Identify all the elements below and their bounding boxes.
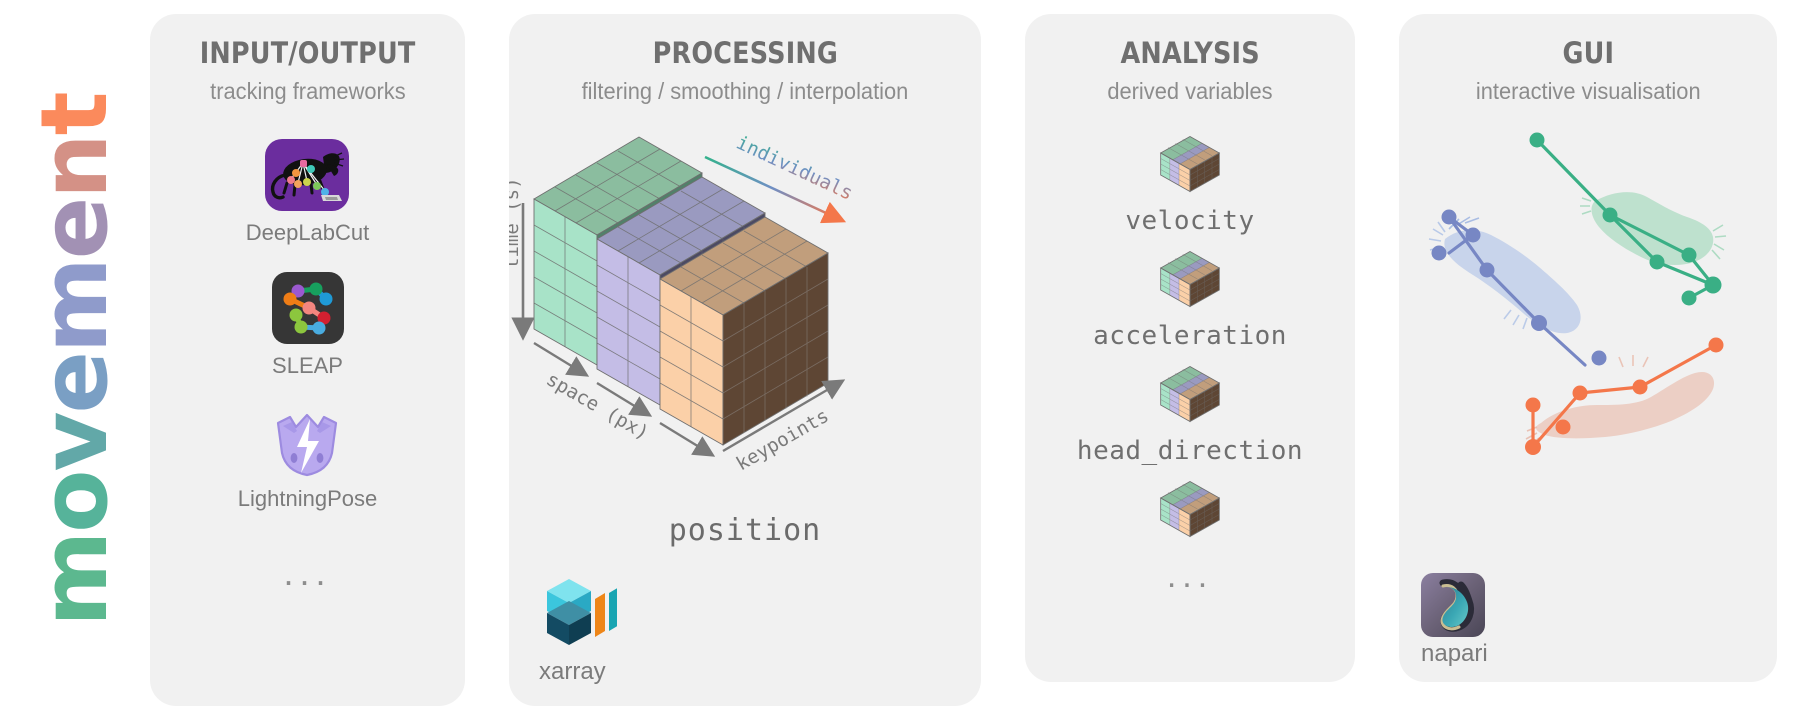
analysis-more-indicator: ... bbox=[1167, 565, 1213, 589]
data-array-caption: position bbox=[669, 513, 822, 548]
list-item-velocity[interactable]: velocity bbox=[1125, 131, 1254, 236]
data-cube-icon bbox=[1155, 246, 1225, 317]
mouse-track-orange bbox=[1525, 338, 1724, 456]
library-xarray[interactable]: xarray bbox=[539, 573, 617, 686]
card-subtitle-gui: interactive visualisation bbox=[1476, 78, 1701, 105]
list-item-label: acceleration bbox=[1093, 321, 1287, 351]
napari-logo-icon bbox=[1421, 573, 1485, 637]
column-container: INPUT/OUTPUT tracking frameworks bbox=[150, 0, 1801, 720]
list-item-more: ... bbox=[1155, 476, 1225, 589]
data-cube-icon bbox=[1155, 131, 1225, 202]
card-input-output: INPUT/OUTPUT tracking frameworks bbox=[150, 14, 465, 706]
lightningpose-logo-icon bbox=[270, 405, 344, 477]
list-item-sleap[interactable]: SLEAP bbox=[272, 272, 344, 379]
brand-logo-letter: e bbox=[29, 353, 121, 413]
library-label: napari bbox=[1421, 640, 1488, 668]
data-cube-icon bbox=[1155, 476, 1225, 547]
mouse-track-blue bbox=[1429, 210, 1607, 366]
card-processing: PROCESSING filtering / smoothing / inter… bbox=[509, 14, 981, 706]
framework-list: DeepLabCut bbox=[150, 139, 465, 584]
card-title-input-output: INPUT/OUTPUT bbox=[200, 36, 416, 70]
list-item-label: SLEAP bbox=[272, 353, 343, 379]
card-subtitle-processing: filtering / smoothing / interpolation bbox=[582, 78, 909, 105]
brand-logo-text: movement bbox=[29, 93, 121, 626]
xarray-logo-icon bbox=[539, 573, 617, 654]
axis-label-individuals: individuals bbox=[733, 132, 856, 205]
brand-logo-letter: v bbox=[29, 414, 121, 472]
mouse-track-green bbox=[1530, 133, 1727, 306]
card-title-gui: GUI bbox=[1562, 36, 1614, 70]
library-label: xarray bbox=[539, 658, 606, 686]
library-napari[interactable]: napari bbox=[1421, 573, 1488, 668]
derived-variable-list: velocity bbox=[1025, 131, 1355, 589]
data-cube-icon bbox=[1155, 361, 1225, 432]
list-item-head-direction[interactable]: head_direction bbox=[1077, 361, 1303, 466]
card-subtitle-analysis: derived variables bbox=[1107, 78, 1272, 105]
card-title-processing: PROCESSING bbox=[652, 36, 837, 70]
data-array-diagram: time (s) space (px) keypoints individual… bbox=[509, 111, 981, 511]
card-gui: GUI interactive visualisation bbox=[1399, 14, 1777, 682]
figure-root: movement INPUT/OUTPUT tracking framework… bbox=[0, 0, 1801, 720]
io-more-indicator: ... bbox=[283, 562, 331, 584]
brand-logo-letter: m bbox=[29, 259, 121, 353]
list-item-label: velocity bbox=[1125, 206, 1254, 236]
list-item-label: DeepLabCut bbox=[246, 220, 370, 246]
list-item-label: head_direction bbox=[1077, 436, 1303, 466]
brand-logo-letter: n bbox=[29, 135, 121, 199]
card-title-analysis: ANALYSIS bbox=[1120, 36, 1259, 70]
list-item-label: LightningPose bbox=[238, 486, 377, 512]
brand-logo-letter: t bbox=[29, 93, 121, 135]
brand-logo: movement bbox=[0, 0, 150, 720]
brand-logo-letter: e bbox=[29, 199, 121, 259]
deeplabcut-logo-icon bbox=[265, 139, 349, 211]
list-item-acceleration[interactable]: acceleration bbox=[1093, 246, 1287, 351]
card-subtitle-input-output: tracking frameworks bbox=[210, 78, 405, 105]
axis-label-time: time (s) bbox=[509, 177, 523, 269]
brand-logo-letter: o bbox=[29, 472, 121, 533]
sleap-logo-icon bbox=[272, 272, 344, 344]
list-item-deeplabcut[interactable]: DeepLabCut bbox=[246, 139, 370, 246]
brand-logo-letter: m bbox=[29, 533, 121, 627]
card-analysis: ANALYSIS derived variables bbox=[1025, 14, 1355, 682]
list-item-lightningpose[interactable]: LightningPose bbox=[238, 405, 377, 512]
